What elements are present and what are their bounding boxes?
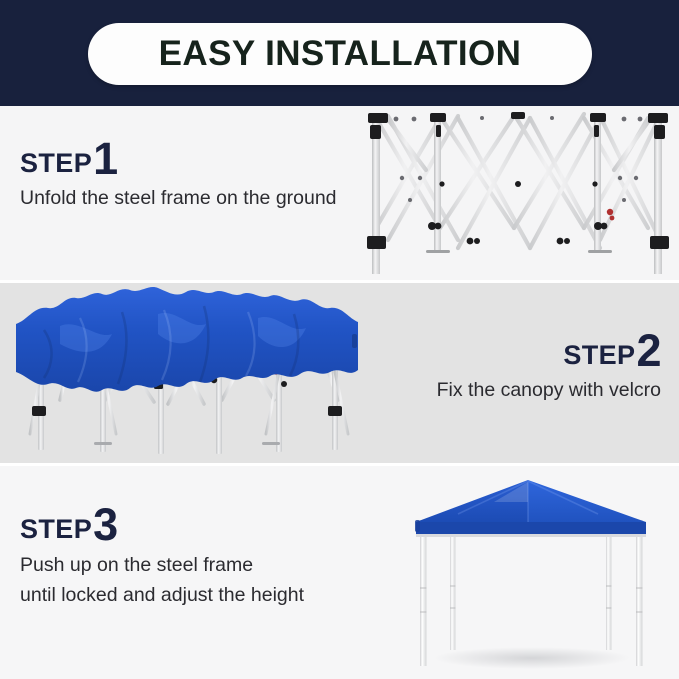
step-2-image [8, 284, 364, 462]
header-banner: EASY INSTALLATION [0, 0, 679, 106]
infographic-page: EASY INSTALLATION STEP 1 Unfold the stee… [0, 0, 679, 679]
step-2-word: STEP [563, 342, 635, 369]
step-3-heading: STEP 3 [20, 500, 304, 545]
title-pill: EASY INSTALLATION [88, 23, 592, 85]
step-1-heading: STEP 1 [20, 134, 337, 179]
canopy-roof-left [416, 480, 528, 526]
step-2-text-block: STEP 2 Fix the canopy with velcro [437, 326, 661, 405]
page-title: EASY INSTALLATION [159, 34, 522, 74]
valance-trim [416, 534, 646, 537]
ground-shadow [434, 647, 630, 669]
folded-steel-frame-illustration [362, 108, 674, 280]
step-2-heading: STEP 2 [437, 326, 661, 371]
step-1-description: Unfold the steel frame on the ground [20, 185, 337, 213]
step-3-number: 3 [93, 502, 118, 547]
step-2-row: STEP 2 Fix the canopy with velcro [0, 283, 679, 463]
step-3-description-line-1: Push up on the steel frame [20, 552, 304, 580]
step-2-number: 2 [636, 328, 661, 373]
step-3-description-line-2: until locked and adjust the height [20, 582, 304, 610]
step-3-row: STEP 3 Push up on the steel frame until … [0, 466, 679, 679]
step-2-description: Fix the canopy with velcro [437, 377, 661, 405]
assembled-canopy-illustration [398, 468, 674, 676]
blue-canopy-draped-illustration [8, 284, 364, 462]
step-3-text-block: STEP 3 Push up on the steel frame until … [20, 500, 304, 609]
step-3-word: STEP [20, 516, 92, 543]
step-1-image [362, 108, 674, 280]
step-1-number: 1 [93, 136, 118, 181]
step-1-text-block: STEP 1 Unfold the steel frame on the gro… [20, 134, 337, 213]
canopy-posts [420, 520, 643, 666]
canopy-valance [416, 522, 646, 536]
step-1-word: STEP [20, 150, 92, 177]
step-3-image [398, 468, 674, 676]
step-1-row: STEP 1 Unfold the steel frame on the gro… [0, 106, 679, 280]
canopy-roof-right [528, 480, 646, 526]
